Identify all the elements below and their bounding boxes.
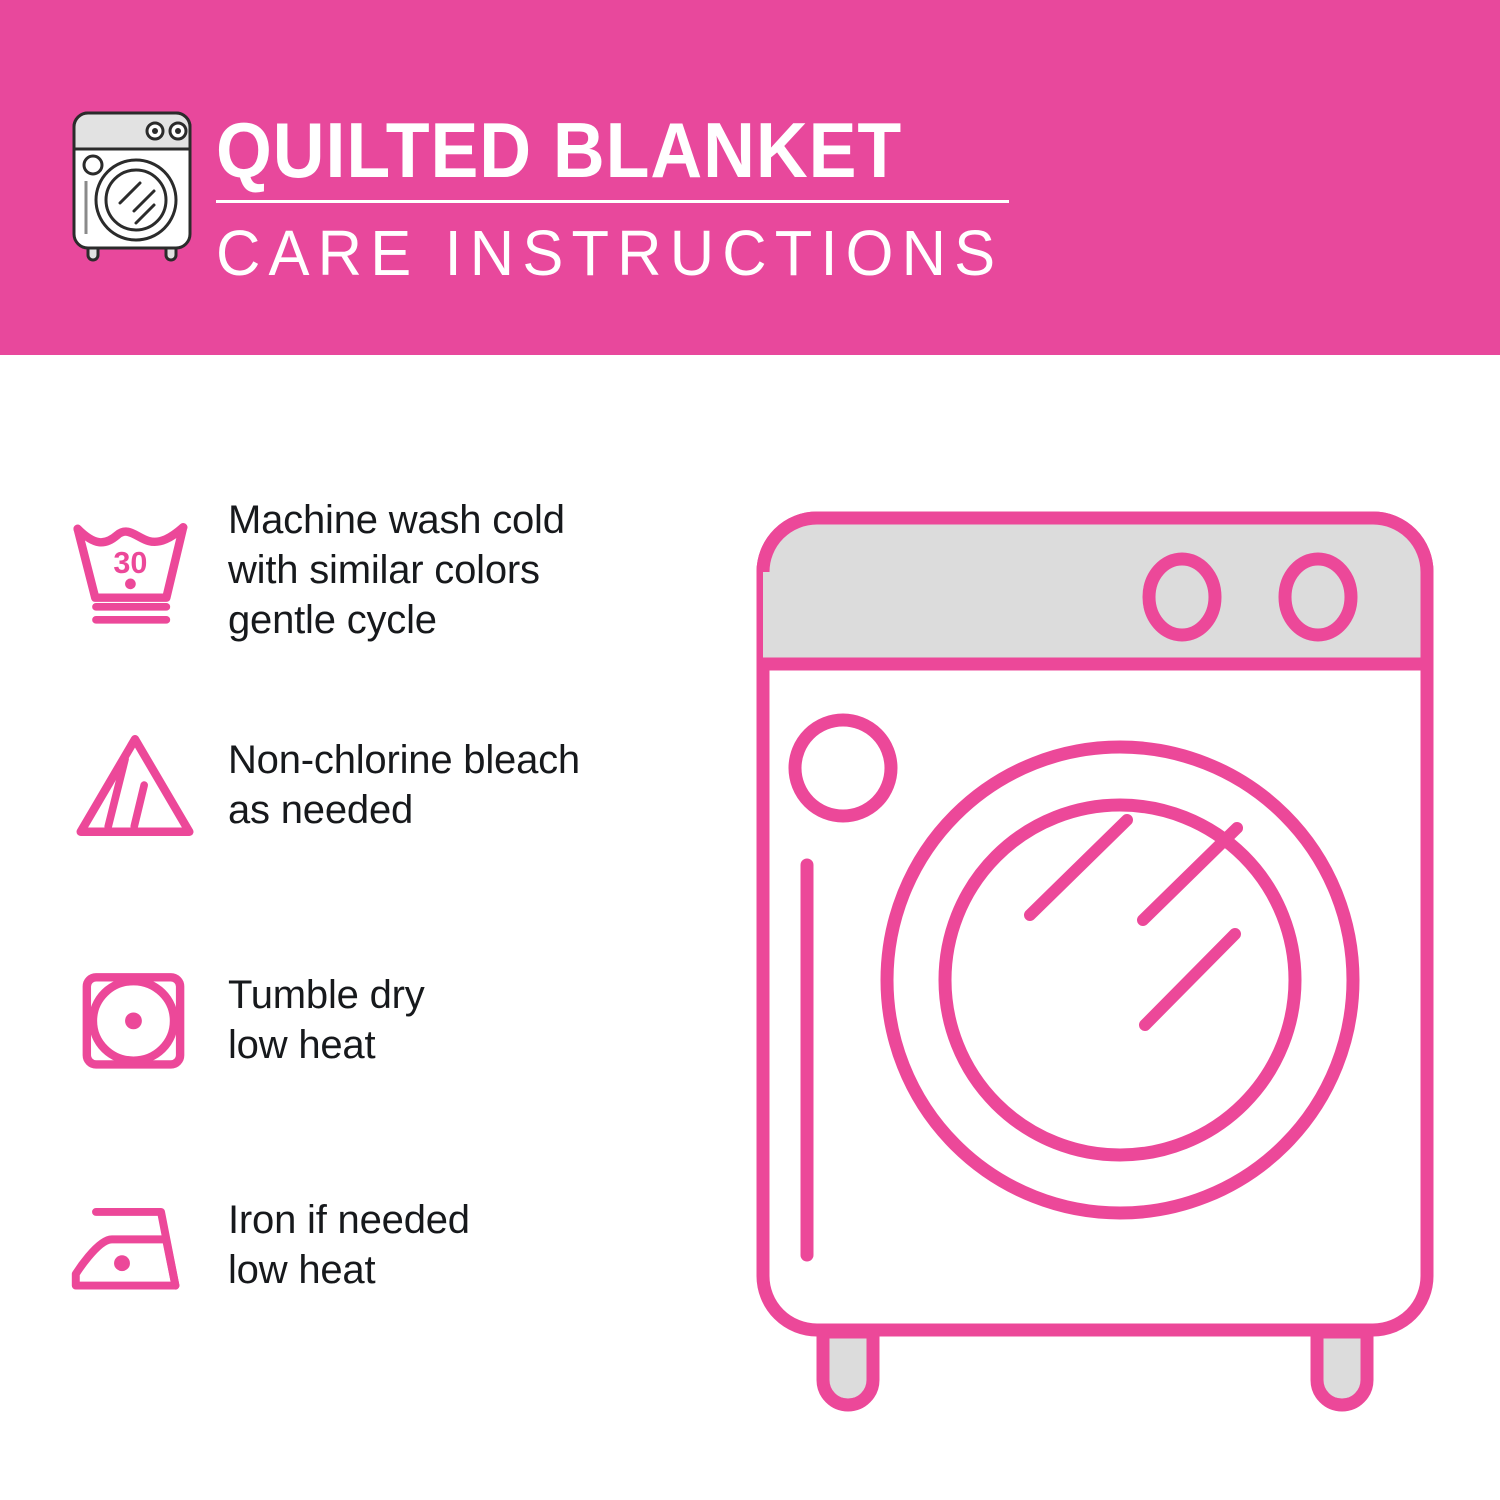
- title-divider: [216, 200, 1009, 203]
- svg-text:30: 30: [113, 546, 147, 580]
- header-title-block: QUILTED BLANKET CARE INSTRUCTIONS: [216, 108, 1026, 289]
- header-banner: QUILTED BLANKET CARE INSTRUCTIONS: [0, 0, 1500, 355]
- care-text-dry: Tumble dry low heat: [200, 970, 425, 1070]
- page-subtitle: CARE INSTRUCTIONS: [216, 217, 994, 289]
- iron-icon: [0, 1155, 200, 1335]
- washing-machine-icon: [62, 103, 202, 263]
- tumble-dry-icon: [0, 930, 200, 1110]
- care-text-wash: Machine wash cold with similar colors ge…: [200, 495, 565, 645]
- care-row-bleach: Non-chlorine bleach as needed: [0, 695, 740, 875]
- care-row-wash: 30 Machine wash cold with similar colors…: [0, 480, 740, 660]
- care-row-dry: Tumble dry low heat: [0, 930, 740, 1110]
- page-title: QUILTED BLANKET: [216, 108, 961, 192]
- care-instruction-list: 30 Machine wash cold with similar colors…: [0, 355, 740, 1500]
- care-text-bleach: Non-chlorine bleach as needed: [200, 735, 580, 835]
- wash-tub-30-icon: 30: [0, 480, 200, 660]
- washing-machine-illustration: [745, 500, 1445, 1430]
- care-text-iron: Iron if needed low heat: [200, 1195, 470, 1295]
- bleach-triangle-icon: [0, 695, 200, 875]
- care-row-iron: Iron if needed low heat: [0, 1155, 740, 1335]
